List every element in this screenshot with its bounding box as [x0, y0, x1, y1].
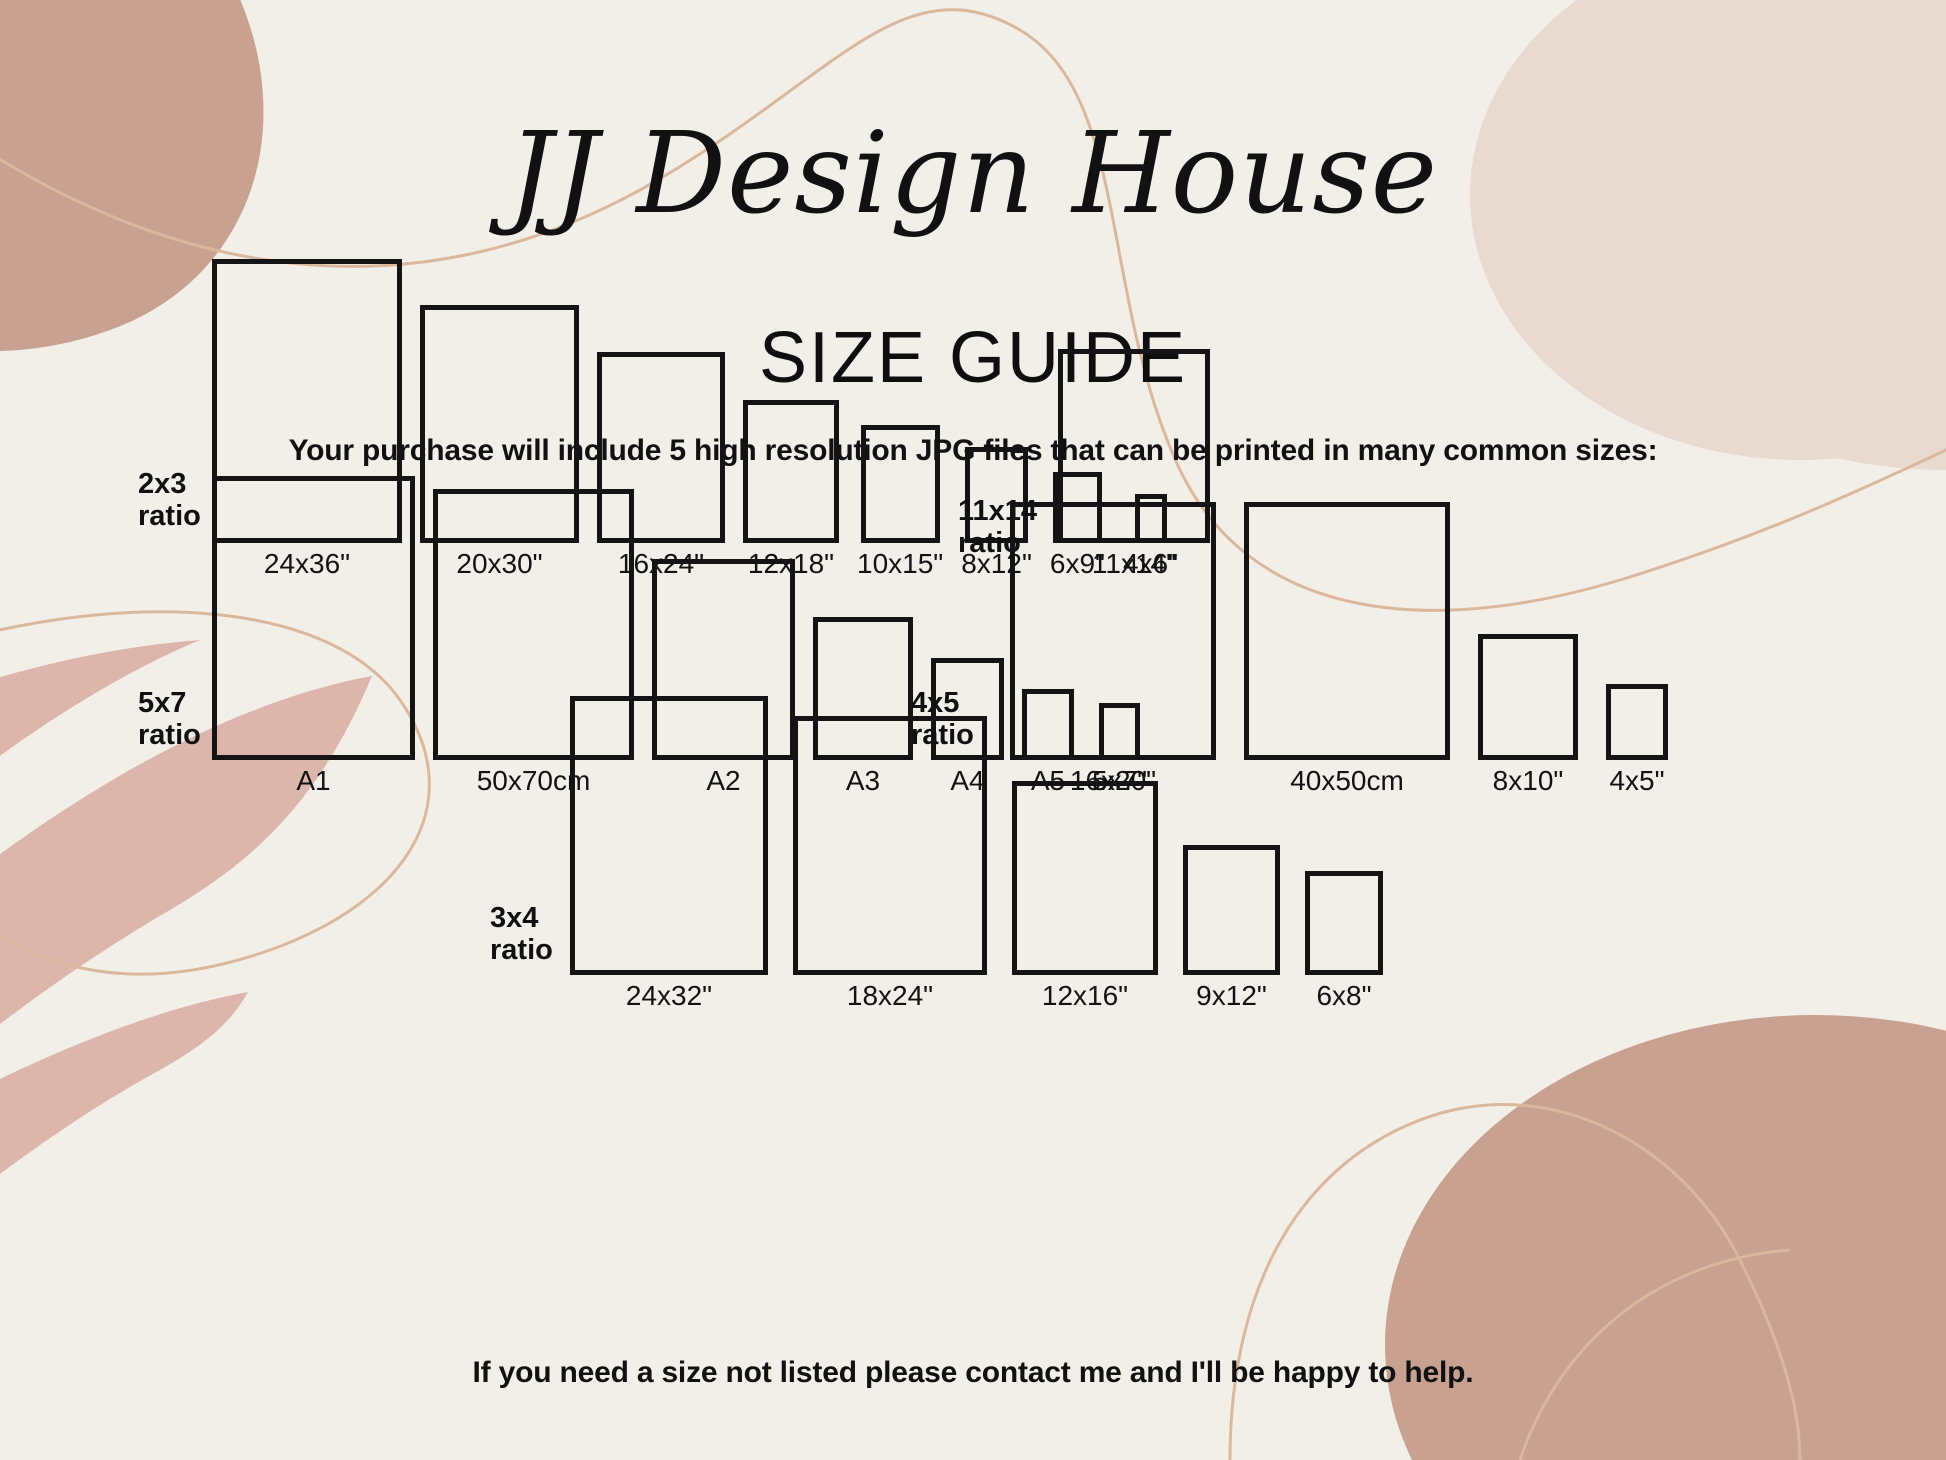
ratio-label-line1: 2x3 — [138, 468, 186, 500]
frame-item[interactable]: 10x15" — [857, 425, 943, 578]
frame-rectangle — [1305, 871, 1383, 975]
frame-caption: 9x12" — [1196, 982, 1267, 1010]
frame-item[interactable]: 18x24" — [793, 716, 987, 1010]
frame-rectangle — [743, 400, 839, 543]
frame-item[interactable]: 9x12" — [1183, 845, 1280, 1010]
frame-caption: 24x32" — [626, 982, 712, 1010]
ratio-label-line2: ratio — [138, 719, 201, 751]
ratio-label-line1: 4x5 — [911, 687, 959, 719]
frame-caption: 40x50cm — [1290, 767, 1404, 795]
ratio-label-line1: 3x4 — [490, 902, 538, 934]
frame-caption: 8x10" — [1493, 767, 1564, 795]
frame-rectangle — [1244, 502, 1450, 760]
frame-rectangle — [1606, 684, 1668, 760]
ratio-label-2x3: 2x3ratio — [138, 468, 201, 533]
frame-item[interactable]: 16x20" — [1010, 502, 1216, 795]
frame-item[interactable]: 12x16" — [1012, 781, 1158, 1010]
frame-caption: 12x16" — [1042, 982, 1128, 1010]
frame-item[interactable]: A1 — [212, 476, 415, 795]
frame-caption: 6x8" — [1316, 982, 1371, 1010]
frame-item[interactable]: 4x5" — [1606, 684, 1668, 795]
frame-rectangle — [1010, 502, 1216, 760]
frame-item[interactable]: 8x10" — [1478, 634, 1578, 795]
frame-caption: 10x15" — [857, 550, 943, 578]
frame-rectangle — [1478, 634, 1578, 760]
frame-caption: 18x24" — [847, 982, 933, 1010]
frame-item[interactable]: 12x18" — [743, 400, 839, 578]
brand-logo: JJ Design House — [0, 118, 1946, 230]
ratio-label-line1: 5x7 — [138, 687, 186, 719]
frame-item[interactable]: 40x50cm — [1244, 502, 1450, 795]
frame-row-3x4: 24x32"18x24"12x16"9x12"6x8" — [570, 838, 1383, 1010]
frame-rectangle — [1012, 781, 1158, 975]
ratio-label-5x7: 5x7ratio — [138, 687, 201, 752]
frame-rectangle — [861, 425, 940, 543]
frame-item[interactable]: 24x32" — [570, 696, 768, 1010]
frame-rectangle — [212, 476, 415, 760]
frame-caption: 4x5" — [1609, 767, 1664, 795]
ratio-label-3x4: 3x4ratio — [490, 902, 553, 967]
frame-rectangle — [793, 716, 987, 975]
frame-item[interactable]: 6x8" — [1305, 871, 1383, 1010]
frame-rectangle — [570, 696, 768, 975]
frame-rectangle — [1183, 845, 1280, 975]
ratio-label-line2: ratio — [490, 934, 553, 966]
frame-caption: A1 — [296, 767, 330, 795]
size-guide-canvas: JJ Design House SIZE GUIDE Your purchase… — [0, 0, 1946, 1460]
ratio-label-line2: ratio — [138, 500, 201, 532]
footnote-text: If you need a size not listed please con… — [0, 1358, 1946, 1388]
frame-row-4x5: 16x20"40x50cm8x10"4x5" — [1010, 636, 1668, 795]
